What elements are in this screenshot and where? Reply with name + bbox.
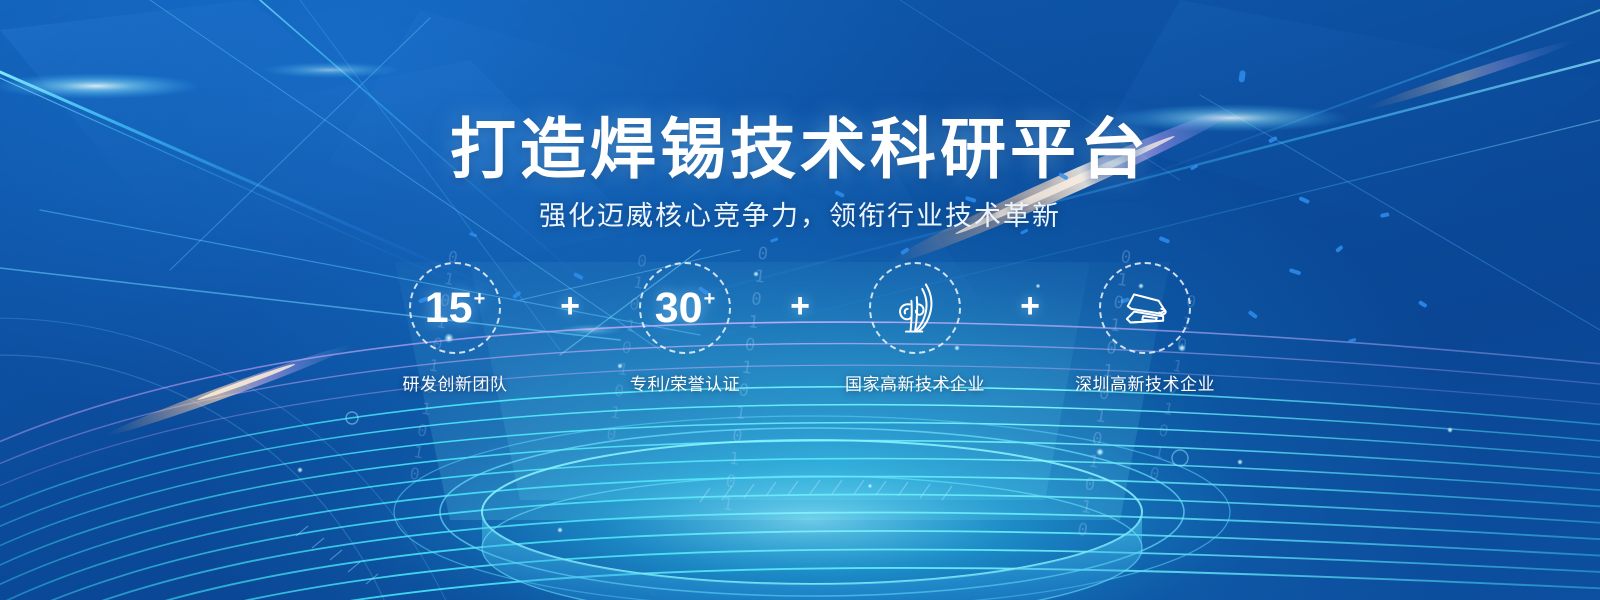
stat-item-rd-team: 15+ 研发创新团队 [369, 262, 541, 395]
stat-item-patents: 30+ 专利/荣誉认证 [599, 262, 771, 395]
stat-suffix: + [704, 289, 716, 309]
stat-label: 深圳高新技术企业 [1075, 370, 1215, 395]
stats-row: 15+ 研发创新团队 + 30+ 专利/荣誉认证 + [0, 262, 1600, 395]
stat-item-national-hightech: 国家高新技术企业 [829, 262, 1001, 395]
stat-circle: 15+ [409, 262, 501, 354]
plus-separator-icon: + [1001, 262, 1059, 350]
stat-number: 15 [425, 287, 473, 330]
stat-circle [1099, 262, 1191, 354]
stat-circle [869, 262, 961, 354]
hero-banner: 01010101010 010101010 010101010101 01010… [0, 0, 1600, 600]
stat-value: 15+ [425, 287, 486, 330]
stat-circle: 30+ [639, 262, 731, 354]
wing-emblem-icon [886, 279, 944, 337]
stapler-icon [1116, 279, 1174, 337]
stat-label: 研发创新团队 [403, 370, 508, 395]
stat-item-shenzhen-hightech: 深圳高新技术企业 [1059, 262, 1231, 395]
banner-content: 打造焊锡技术科研平台 强化迈威核心竞争力，领衔行业技术革新 15+ 研发创新团队… [0, 0, 1600, 600]
plus-separator-icon: + [771, 262, 829, 350]
stat-label: 国家高新技术企业 [845, 370, 985, 395]
stat-value: 30+ [655, 287, 716, 330]
banner-title: 打造焊锡技术科研平台 [0, 116, 1600, 182]
stat-label: 专利/荣誉认证 [630, 370, 740, 395]
plus-separator-icon: + [541, 262, 599, 350]
stat-suffix: + [474, 289, 486, 309]
banner-subtitle: 强化迈威核心竞争力，领衔行业技术革新 [0, 203, 1600, 230]
stat-number: 30 [655, 287, 703, 330]
